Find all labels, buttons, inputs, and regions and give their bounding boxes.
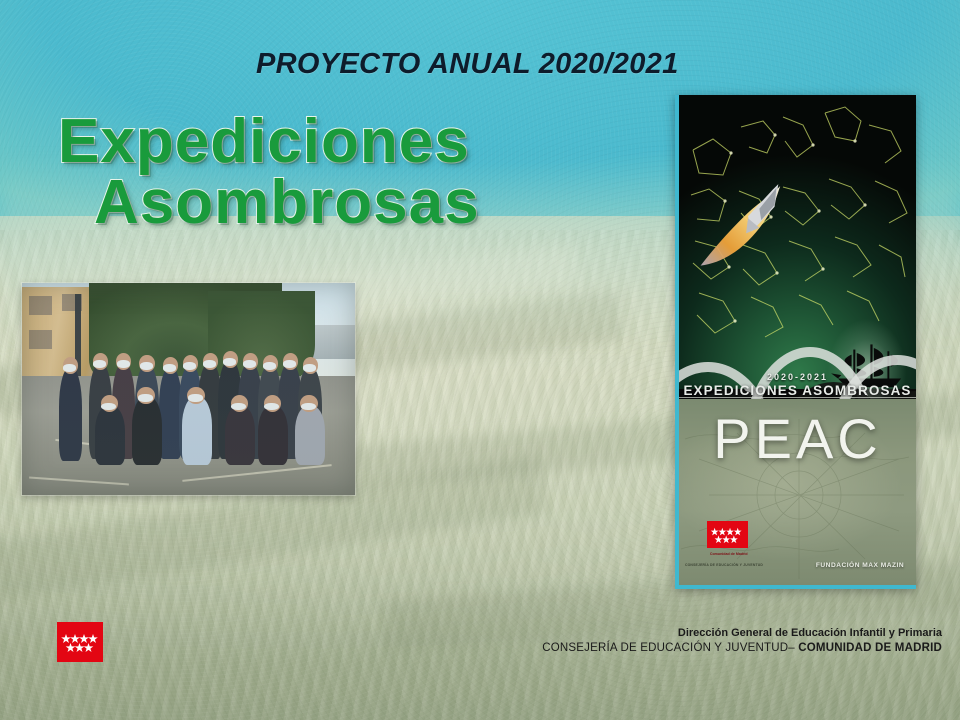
footer-line-1: Dirección General de Educación Infantil …: [542, 626, 942, 641]
poster-consejeria: CONSEJERÍA DE EDUCACIÓN Y JUVENTUD: [684, 563, 765, 567]
madrid-stars-icon: [707, 521, 747, 548]
peac-poster: 2020-2021 EXPEDICIONES ASOMBROSAS: [675, 95, 916, 589]
slide-kicker: PROYECTO ANUAL 2020/2021: [256, 48, 679, 81]
page-title-line2: Asombrosas: [58, 173, 578, 234]
page-title-line1: Expediciones: [58, 107, 470, 176]
footer-line-2-bold: COMUNIDAD DE MADRID: [798, 642, 942, 654]
poster-year: 2020-2021: [679, 372, 916, 382]
footer-line-2: CONSEJERÍA DE EDUCACIÓN Y JUVENTUD– COMU…: [542, 641, 942, 657]
poster-divider: [679, 397, 916, 398]
page-title: Expediciones Asombrosas: [58, 112, 578, 234]
poster-sponsor: FUNDACIÓN MAX MAZIN: [816, 562, 904, 569]
footer-line-2-regular: CONSEJERÍA DE EDUCACIÓN Y JUVENTUD–: [542, 642, 798, 654]
footer: Dirección General de Educación Infantil …: [542, 626, 942, 656]
photo-vignette: [22, 283, 355, 495]
group-photo: [22, 283, 355, 495]
presentation-slide: PROYECTO ANUAL 2020/2021 Expediciones As…: [0, 0, 960, 720]
poster-subtitle: EXPEDICIONES ASOMBROSAS: [679, 383, 916, 398]
poster-logo-caption: Comunidad de Madrid: [698, 552, 760, 556]
rocket-icon: [693, 124, 788, 320]
poster-brand: PEAC: [679, 406, 916, 471]
poster-band: 2020-2021 EXPEDICIONES ASOMBROSAS: [679, 372, 916, 398]
madrid-stars-icon: [57, 622, 103, 662]
